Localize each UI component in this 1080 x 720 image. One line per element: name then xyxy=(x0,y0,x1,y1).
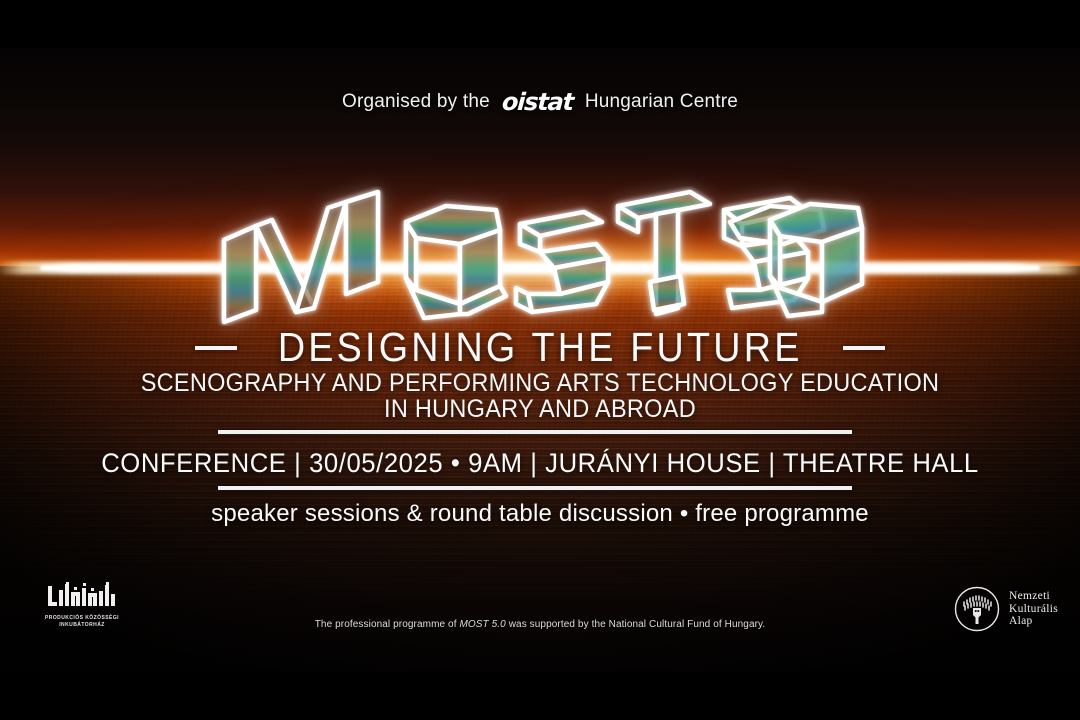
poster-content: Organised by the oistat Hungarian Centre xyxy=(0,0,1080,720)
poster-canvas: Organised by the oistat Hungarian Centre xyxy=(0,0,1080,720)
main-title xyxy=(0,186,1080,326)
tagline-text: DESIGNING THE FUTURE xyxy=(278,324,803,371)
organiser-suffix: Hungarian Centre xyxy=(585,91,738,113)
subtitle-block: SCENOGRAPHY AND PERFORMING ARTS TECHNOLO… xyxy=(32,370,1047,422)
organiser-line: Organised by the oistat Hungarian Centre xyxy=(0,88,1080,116)
oistat-logo: oistat xyxy=(499,88,576,116)
funding-note-before: The professional programme of xyxy=(315,619,460,630)
juranyi-logo: PRODUKCIÓS KÖZÖSSÉGI INKUBÁTORHÁZ xyxy=(36,582,128,629)
event-details: CONFERENCE | 30/05/2025 • 9AM | JURÁNYI … xyxy=(27,448,1053,479)
nka-wordmark: Nemzeti Kulturális Alap xyxy=(1009,590,1058,628)
subtitle-line-1: SCENOGRAPHY AND PERFORMING ARTS TECHNOLO… xyxy=(141,369,940,397)
main-title-artwork xyxy=(210,186,870,326)
nka-line-2: Kulturális xyxy=(1009,603,1058,616)
funding-note-emphasis: MOST 5.0 xyxy=(459,619,505,630)
funding-note-after: was supported by the National Cultural F… xyxy=(506,619,765,630)
tagline-row: DESIGNING THE FUTURE xyxy=(0,324,1080,371)
organiser-prefix: Organised by the xyxy=(342,91,490,113)
divider-top xyxy=(218,430,852,434)
subtitle-line-2: IN HUNGARY AND ABROAD xyxy=(32,396,1047,422)
juranyi-wordmark-icon xyxy=(46,582,118,610)
juranyi-caption: PRODUKCIÓS KÖZÖSSÉGI INKUBÁTORHÁZ xyxy=(45,615,119,629)
juranyi-caption-line-2: INKUBÁTORHÁZ xyxy=(59,622,105,628)
tagline-rule-left xyxy=(195,346,237,350)
juranyi-caption-line-1: PRODUKCIÓS KÖZÖSSÉGI xyxy=(45,615,119,621)
funding-note: The professional programme of MOST 5.0 w… xyxy=(0,619,1080,630)
tagline-rule-right xyxy=(843,346,885,350)
nka-line-3: Alap xyxy=(1009,615,1058,628)
nka-line-1: Nemzeti xyxy=(1009,590,1058,603)
nka-tree-emblem-icon xyxy=(954,586,1000,632)
divider-bottom xyxy=(218,486,852,490)
nka-logo: Nemzeti Kulturális Alap xyxy=(954,586,1058,632)
programme-line: speaker sessions & round table discussio… xyxy=(0,500,1080,528)
